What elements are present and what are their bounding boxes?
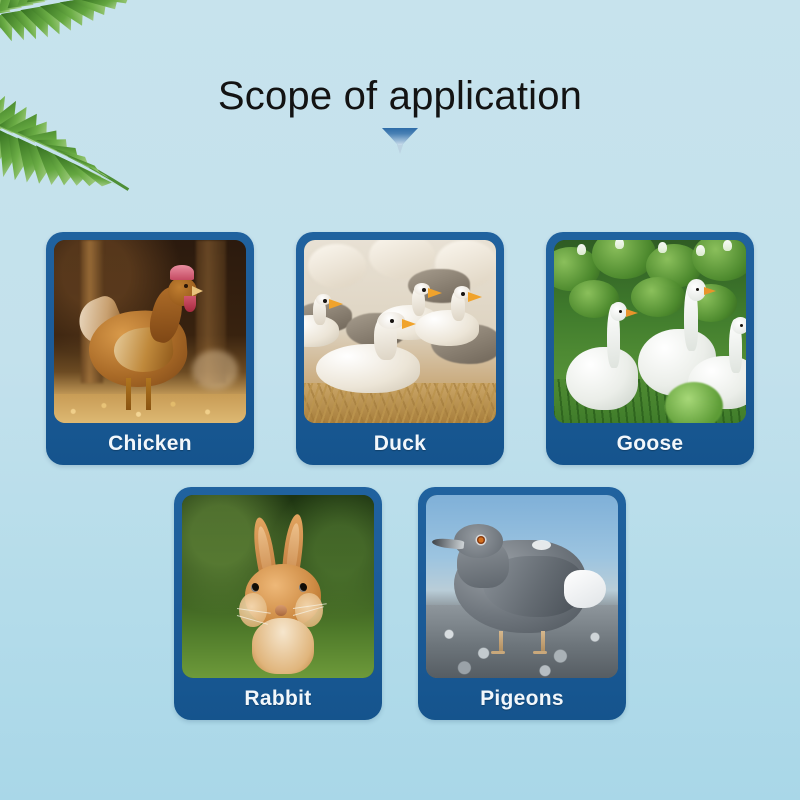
scope-of-application-page: Scope of application	[0, 0, 800, 800]
goose-photo	[554, 240, 746, 423]
funnel-icon	[382, 128, 418, 154]
funnel-stem	[397, 145, 403, 154]
chicken-photo	[54, 240, 246, 423]
page-header: Scope of application	[0, 72, 800, 154]
card-label-rabbit: Rabbit	[182, 678, 374, 720]
page-title: Scope of application	[0, 72, 800, 120]
card-row-1: Chicken	[0, 232, 800, 465]
card-label-chicken: Chicken	[54, 423, 246, 465]
rabbit-photo	[182, 495, 374, 678]
card-rabbit[interactable]: Rabbit	[174, 487, 382, 720]
pigeon-photo	[426, 495, 618, 678]
card-label-pigeons: Pigeons	[426, 678, 618, 720]
duck-photo	[304, 240, 496, 423]
card-goose[interactable]: Goose	[546, 232, 754, 465]
card-row-2: Rabbit	[0, 487, 800, 720]
card-label-duck: Duck	[304, 423, 496, 465]
card-label-goose: Goose	[554, 423, 746, 465]
card-chicken[interactable]: Chicken	[46, 232, 254, 465]
card-pigeons[interactable]: Pigeons	[418, 487, 626, 720]
card-duck[interactable]: Duck	[296, 232, 504, 465]
